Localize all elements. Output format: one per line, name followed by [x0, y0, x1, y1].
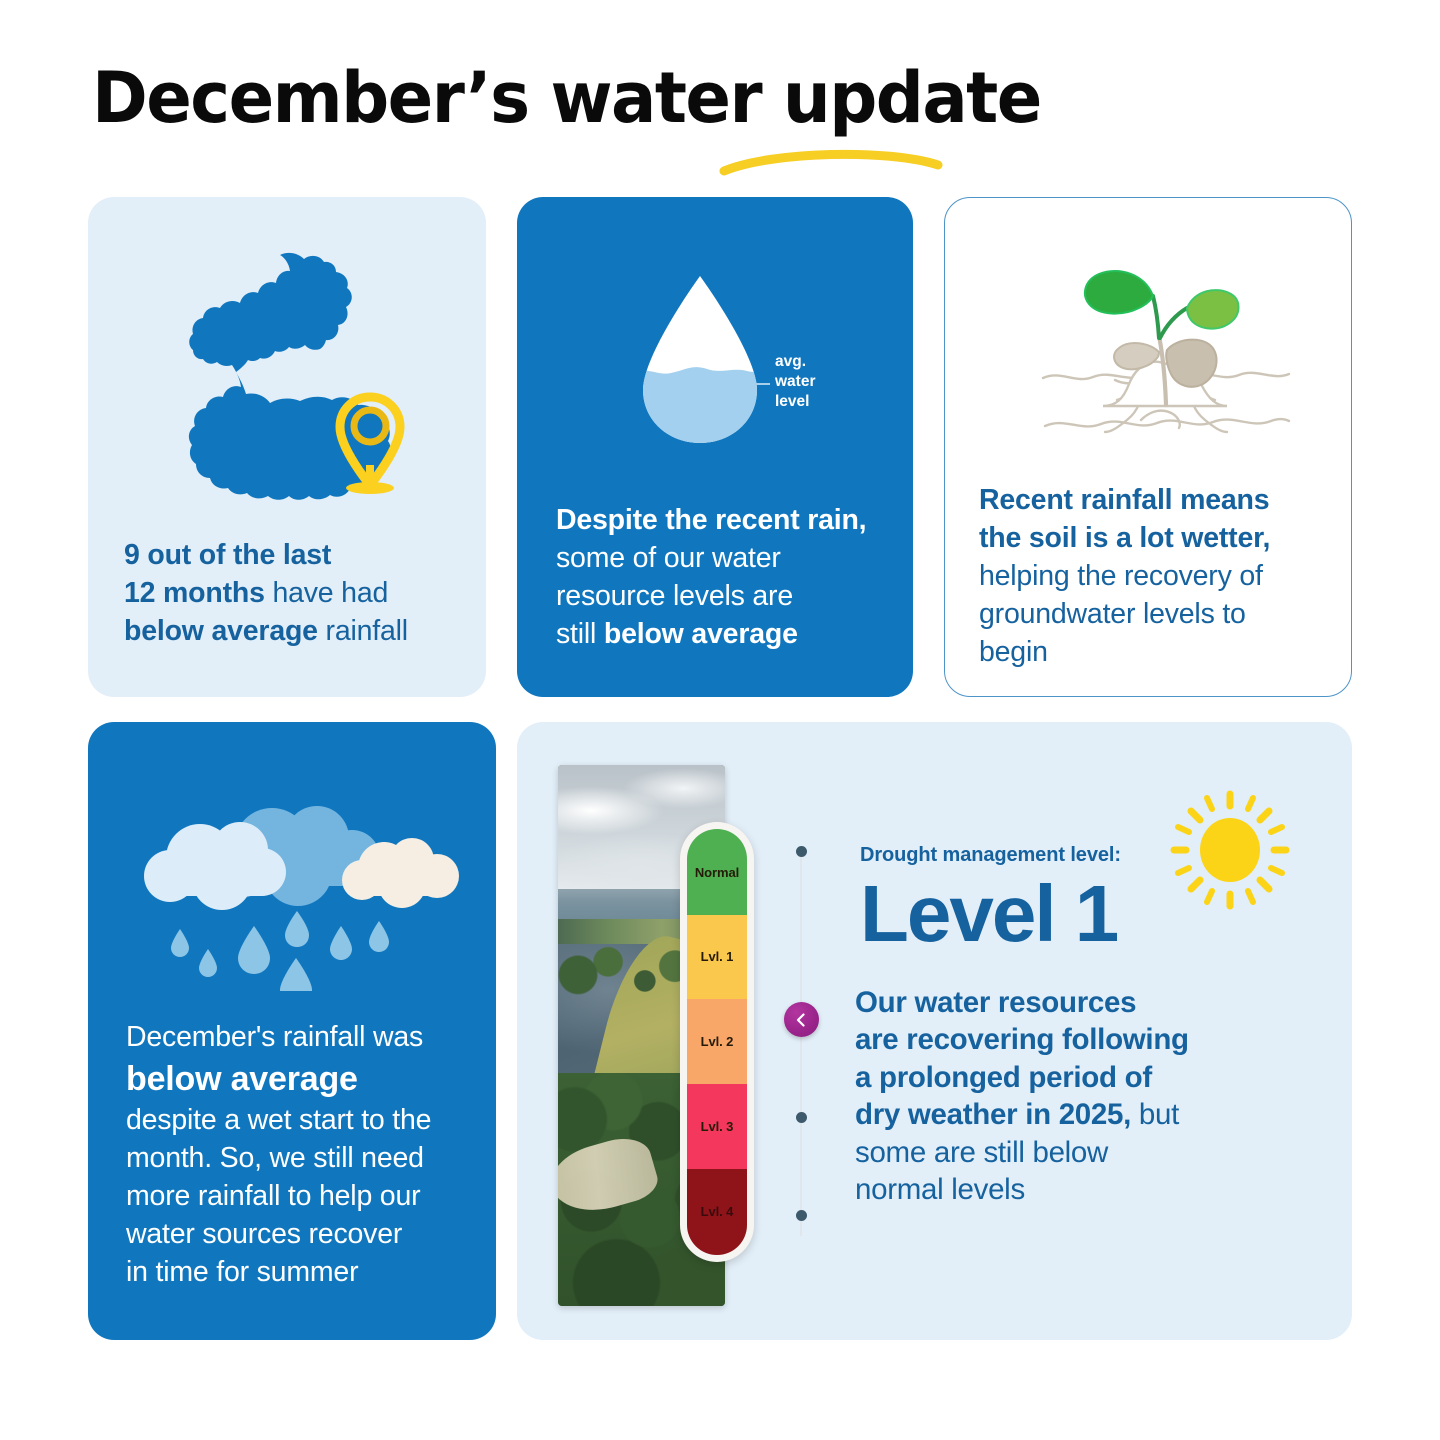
card-water-levels: avg. water level Despite the recent rain… [517, 197, 913, 697]
rail-dot [796, 1210, 807, 1221]
card-december-rain: December's rainfall wasbelow averagedesp… [88, 722, 496, 1340]
gauge-segment-normal[interactable]: Normal [687, 829, 747, 915]
gauge-indicator-rail [790, 844, 812, 1244]
card-water-levels-text: Despite the recent rain,some of our wate… [556, 502, 886, 654]
region-map-icon [184, 249, 420, 503]
avg-label-line-2: water [775, 372, 816, 392]
card-rainfall-months-text: 9 out of the last12 months have hadbelow… [124, 537, 469, 651]
drought-gauge: Normal Lvl. 1 Lvl. 2 Lvl. 3 Lvl. 4 [680, 822, 754, 1262]
drought-gauge-track: Normal Lvl. 1 Lvl. 2 Lvl. 3 Lvl. 4 [687, 829, 747, 1255]
rail-dot [796, 846, 807, 857]
avg-label-line-3: level [775, 392, 816, 412]
rail-dot [796, 1112, 807, 1123]
rain-cloud-icon [112, 806, 462, 991]
gauge-segment-lvl1[interactable]: Lvl. 1 [687, 915, 747, 998]
page-title: December’s water update [92, 63, 1148, 133]
title-underline-swoosh [720, 145, 942, 179]
drought-level-body: Our water resourcesare recovering follow… [855, 984, 1330, 1209]
water-droplet-icon [635, 272, 765, 447]
card-december-rain-text: December's rainfall wasbelow averagedesp… [126, 1019, 476, 1292]
page-header: December’s water update [92, 63, 1192, 183]
rail-line [800, 852, 802, 1236]
gauge-segment-lvl3[interactable]: Lvl. 3 [687, 1084, 747, 1169]
card-soil-moisture-text: Recent rainfall meansthe soil is a lot w… [979, 482, 1339, 671]
current-level-marker[interactable] [784, 1002, 819, 1037]
gauge-segment-lvl4[interactable]: Lvl. 4 [687, 1169, 747, 1255]
infographic-page: December’s water update 9 out of the las… [0, 0, 1440, 1440]
card-rainfall-months: 9 out of the last12 months have hadbelow… [88, 197, 486, 697]
card-drought-level: Normal Lvl. 1 Lvl. 2 Lvl. 3 Lvl. 4 Droug… [517, 722, 1352, 1340]
drought-level-value: Level 1 [860, 874, 1117, 954]
sun-icon [1160, 780, 1300, 920]
avg-water-level-leader-line [753, 383, 770, 385]
card-soil-moisture: Recent rainfall meansthe soil is a lot w… [944, 197, 1352, 697]
gauge-segment-lvl2[interactable]: Lvl. 2 [687, 999, 747, 1084]
seedling-icon [1041, 260, 1291, 460]
chevron-left-icon [793, 1012, 809, 1028]
avg-label-line-1: avg. [775, 352, 816, 372]
drought-level-kicker: Drought management level: [860, 844, 1121, 867]
avg-water-level-label: avg. water level [775, 352, 816, 411]
